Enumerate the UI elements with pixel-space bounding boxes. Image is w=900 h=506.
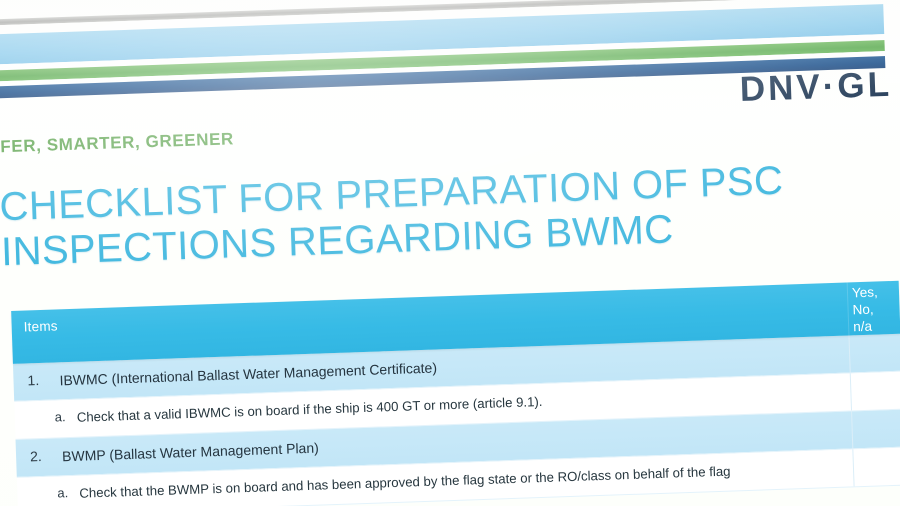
row-answer-cell[interactable] [851, 410, 900, 449]
brand-tagline: SAFER, SMARTER, GREENER [0, 129, 234, 158]
checklist-table: Items Yes, No, n/a 1.IBWMC (Internationa… [11, 281, 900, 506]
document-sheet: DNV·GL SAFER, SMARTER, GREENER CHECKLIST… [0, 0, 900, 506]
table-body: 1.IBWMC (International Ballast Water Man… [13, 334, 900, 506]
document-scan-viewport: DNV·GL SAFER, SMARTER, GREENER CHECKLIST… [0, 0, 900, 506]
row-answer-cell[interactable] [850, 372, 900, 411]
row-answer-cell[interactable] [852, 448, 900, 487]
page-title: CHECKLIST FOR PREPARATION OF PSC INSPECT… [0, 155, 900, 275]
column-header-answer: Yes, No, n/a [847, 281, 900, 336]
row-number: a. [17, 485, 80, 504]
row-number: 1. [13, 371, 60, 391]
row-number: 2. [16, 447, 63, 467]
row-answer-cell[interactable] [848, 334, 900, 373]
row-number: a. [15, 409, 78, 428]
dnv-gl-logo: DNV·GL [739, 65, 892, 110]
